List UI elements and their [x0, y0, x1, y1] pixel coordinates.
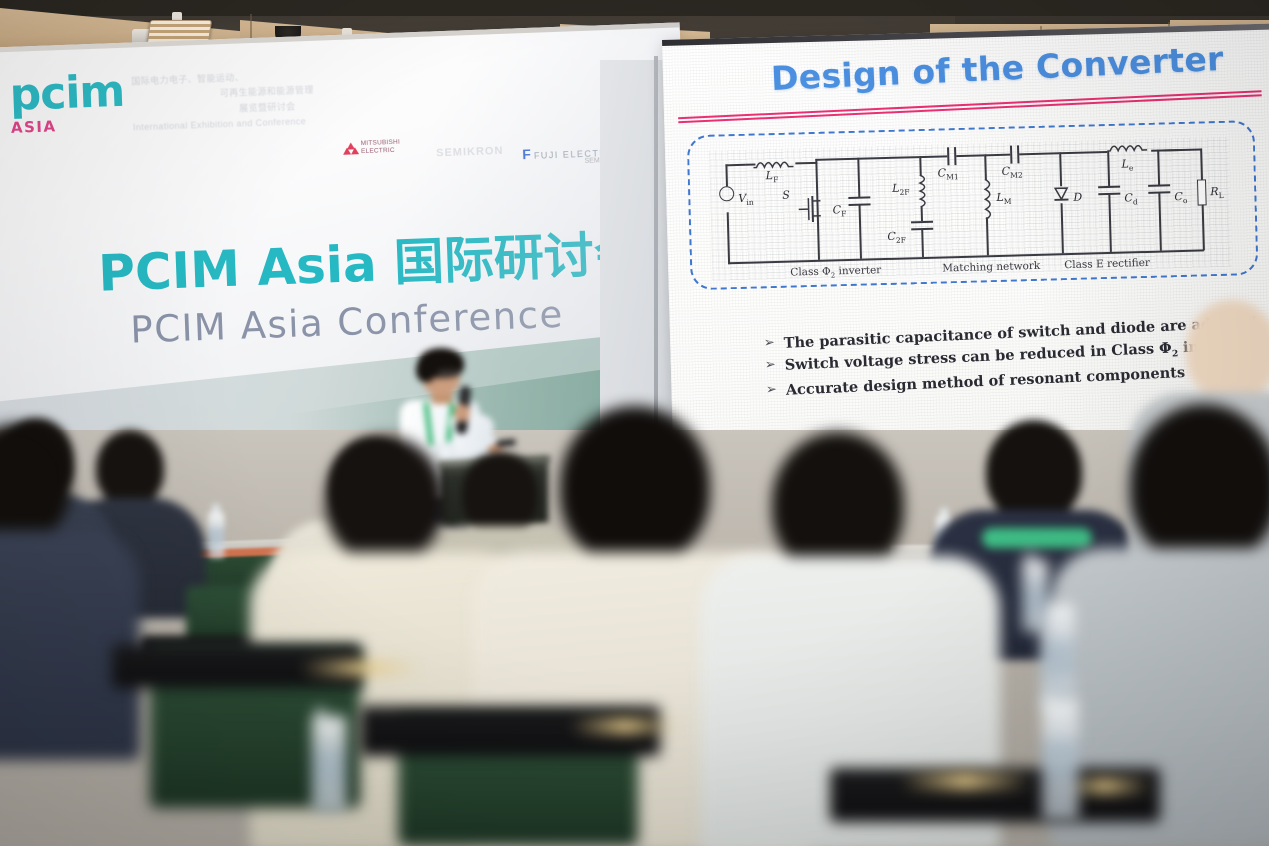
label-Le: Le	[1121, 157, 1133, 173]
bullet-arrow-icon: ➢	[765, 380, 777, 402]
wire	[1019, 152, 1059, 155]
wire	[725, 164, 727, 186]
converter-circuit-diagram: Vin LF S	[709, 137, 1232, 281]
wire	[1108, 194, 1111, 252]
wire	[1059, 151, 1107, 154]
label-Vin: Vin	[738, 192, 754, 208]
component-inductor-LF	[753, 157, 797, 167]
wire	[919, 155, 947, 157]
speaker-hair	[416, 358, 432, 382]
wire	[986, 217, 989, 255]
pcim-event-banner: pcim ASIA 国际电力电子、智能运动、 可再生能源和能源管理 展览暨研讨会…	[0, 22, 695, 467]
label-Cd: Cd	[1124, 191, 1138, 207]
wire	[745, 164, 755, 166]
wire	[795, 162, 817, 164]
speaker-hand	[454, 404, 470, 422]
label-CM2: CM2	[1002, 164, 1023, 180]
wire	[859, 205, 862, 259]
speaker-glasses	[438, 370, 460, 377]
component-voltage-source-Vin	[719, 186, 734, 201]
bullet-arrow-icon: ➢	[763, 333, 775, 355]
component-inductor-Le	[1107, 141, 1153, 151]
bullet-arrow-icon: ➢	[764, 355, 776, 380]
ceiling-beam	[0, 0, 1269, 16]
wire	[1157, 150, 1160, 186]
water-bottle	[208, 512, 224, 558]
label-LM: LM	[996, 191, 1011, 207]
component-mosfet-S	[798, 194, 825, 230]
wire	[984, 154, 1010, 156]
wire	[921, 229, 923, 257]
component-inductor-LM	[978, 179, 993, 219]
wire	[921, 207, 923, 221]
chair-highlight	[900, 772, 1030, 790]
wire	[725, 164, 745, 166]
wire	[1158, 193, 1161, 251]
conference-photo-scene: pcim ASIA 国际电力电子、智能运动、 可再生能源和能源管理 展览暨研讨会…	[0, 0, 1269, 846]
water-bottle	[1022, 560, 1048, 632]
circuit-section-label-rectifier: Class E rectifier	[1064, 257, 1150, 271]
label-D: D	[1073, 191, 1082, 204]
wire	[1107, 151, 1110, 187]
wire	[956, 154, 984, 156]
wire	[857, 158, 860, 198]
wire	[919, 156, 921, 176]
wire	[1059, 152, 1062, 186]
water-bottle	[1042, 700, 1078, 820]
wire	[1157, 148, 1201, 151]
label-CM1: CM1	[938, 166, 959, 182]
wire	[1202, 204, 1205, 250]
chair-highlight	[570, 718, 680, 734]
wire	[1061, 203, 1064, 253]
label-CF: CF	[832, 203, 846, 219]
wire	[984, 154, 986, 180]
label-C2F: C2F	[887, 229, 906, 245]
label-S: S	[782, 189, 790, 202]
component-inductor-L2F	[913, 175, 928, 209]
wire	[727, 212, 730, 264]
water-bottle	[312, 716, 346, 812]
chair-highlight	[300, 660, 420, 676]
circuit-section-label-inverter: Class Φ2 inverter	[790, 264, 881, 281]
wire-top-rail	[815, 156, 919, 160]
wire	[1200, 148, 1202, 180]
label-RL: RL	[1210, 185, 1224, 201]
label-LF: LF	[766, 169, 779, 185]
label-Co: Co	[1174, 190, 1187, 206]
component-resistor-RL	[1197, 179, 1207, 205]
label-L2F: L2F	[892, 181, 910, 197]
